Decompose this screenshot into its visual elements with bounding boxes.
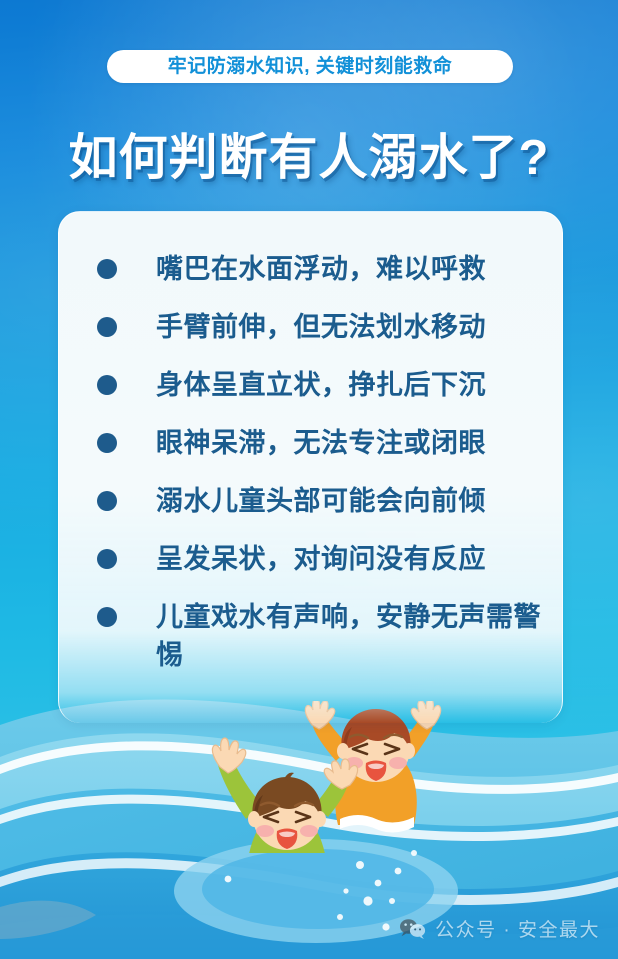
bullet-dot-icon xyxy=(97,491,117,511)
list-item: 溺水儿童头部可能会向前倾 xyxy=(87,476,544,534)
list-item: 呈发呆状，对询问没有反应 xyxy=(87,534,544,592)
poster-root: 牢记防溺水知识, 关键时刻能救命 如何判断有人溺水了? 嘴巴在水面浮动，难以呼救… xyxy=(0,0,618,959)
list-item: 手臂前伸，但无法划水移动 xyxy=(87,302,544,360)
drowning-children-illustration xyxy=(188,701,456,921)
tips-list: 嘴巴在水面浮动，难以呼救 手臂前伸，但无法划水移动 身体呈直立状，挣扎后下沉 眼… xyxy=(87,244,544,675)
bullet-dot-icon xyxy=(97,607,117,627)
list-item-label: 眼神呆滞，无法专注或闭眼 xyxy=(156,424,486,462)
bullet-dot-icon xyxy=(97,433,117,453)
tips-card: 嘴巴在水面浮动，难以呼救 手臂前伸，但无法划水移动 身体呈直立状，挣扎后下沉 眼… xyxy=(58,211,563,723)
list-item-label: 手臂前伸，但无法划水移动 xyxy=(156,308,486,346)
list-item-label: 身体呈直立状，挣扎后下沉 xyxy=(156,366,486,404)
list-item-label: 儿童戏水有声响，安静无声需警惕 xyxy=(156,598,544,675)
list-item: 身体呈直立状，挣扎后下沉 xyxy=(87,360,544,418)
child-left xyxy=(212,738,357,901)
list-item: 眼神呆滞，无法专注或闭眼 xyxy=(87,418,544,476)
page-title: 如何判断有人溺水了? xyxy=(0,132,618,186)
watermark-label: 公众号 · 安全最大 xyxy=(435,915,600,942)
list-item-label: 呈发呆状，对询问没有反应 xyxy=(156,540,486,578)
watermark: 公众号 · 安全最大 xyxy=(399,915,600,942)
bullet-dot-icon xyxy=(97,259,117,279)
header-badge-label: 牢记防溺水知识, 关键时刻能救命 xyxy=(168,57,453,76)
bullet-dot-icon xyxy=(97,375,117,395)
header-badge: 牢记防溺水知识, 关键时刻能救命 xyxy=(107,50,513,83)
wechat-bubble-icon xyxy=(399,918,426,939)
bullet-dot-icon xyxy=(97,549,117,569)
list-item: 儿童戏水有声响，安静无声需警惕 xyxy=(87,592,544,675)
bullet-dot-icon xyxy=(97,317,117,337)
list-item: 嘴巴在水面浮动，难以呼救 xyxy=(87,244,544,302)
list-item-label: 嘴巴在水面浮动，难以呼救 xyxy=(156,250,486,288)
list-item-label: 溺水儿童头部可能会向前倾 xyxy=(156,482,486,520)
